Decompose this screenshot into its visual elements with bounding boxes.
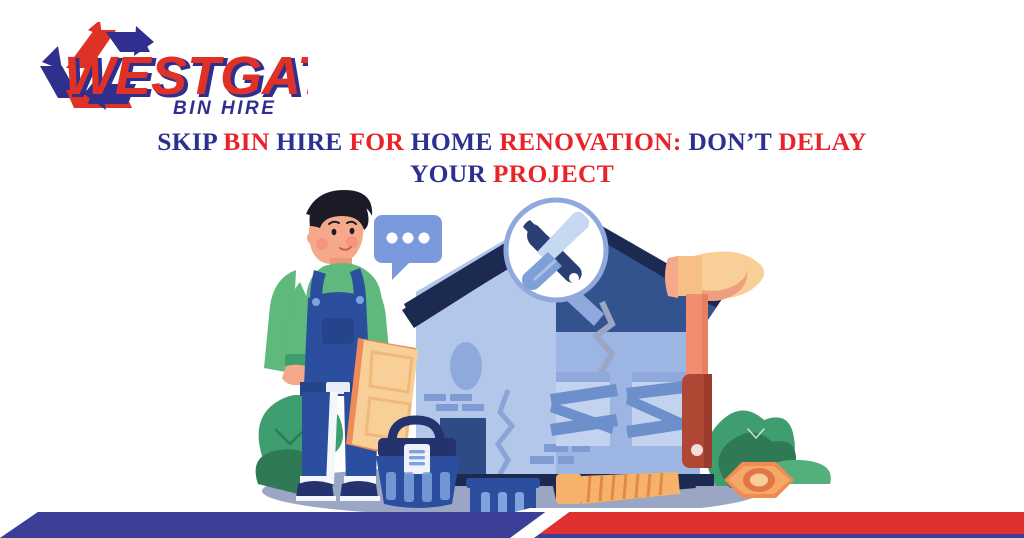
promo-banner: WESTGATE WESTGATE BIN HIRE SKIP BIN HIRE… — [0, 0, 1024, 538]
title-word: HIRE — [276, 127, 342, 156]
title-word: DON’T — [688, 127, 771, 156]
title-word: PROJECT — [493, 159, 614, 188]
footer-stripes — [0, 498, 1024, 538]
attic-window — [450, 342, 482, 390]
title-word: RENOVATION: — [499, 127, 681, 156]
hero-illustration — [0, 186, 1024, 516]
title-word: SKIP — [157, 127, 216, 156]
logo-tagline: BIN HIRE — [173, 98, 276, 114]
speech-bubble-icon — [374, 215, 442, 280]
stripe-red-front — [524, 514, 1024, 534]
title-word: HOME — [411, 127, 493, 156]
title-word: YOUR — [410, 159, 486, 188]
title-word: FOR — [349, 127, 404, 156]
title-word: DELAY — [778, 127, 866, 156]
svg-text:WESTGATE: WESTGATE — [64, 46, 308, 106]
page-title: SKIP BIN HIRE FOR HOME RENOVATION: DON’T… — [0, 126, 1024, 190]
title-word: BIN — [223, 127, 269, 156]
stripe-blue-front — [0, 512, 560, 538]
westgate-logo[interactable]: WESTGATE WESTGATE BIN HIRE — [28, 22, 308, 114]
boarded-window-left — [550, 372, 618, 446]
